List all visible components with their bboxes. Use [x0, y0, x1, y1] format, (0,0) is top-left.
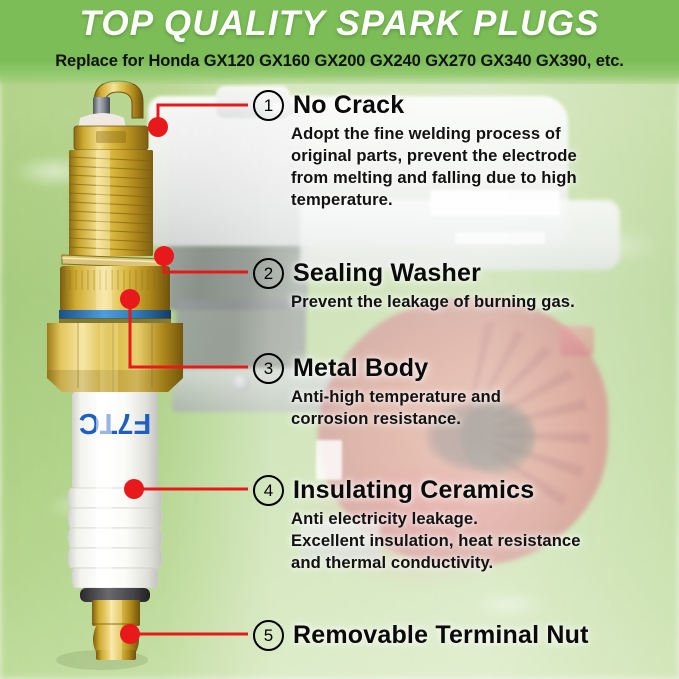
feature-5-number: 5: [253, 620, 284, 651]
feature-2: 2 Sealing Washer Prevent the leakage of …: [253, 258, 575, 313]
feature-1-line-1: Adopt the fine welding process of: [291, 123, 577, 145]
feature-4-title: Insulating Ceramics: [293, 476, 534, 505]
feature-3-number: 3: [253, 353, 284, 384]
feature-4-line-2: Excellent insulation, heat resistance: [291, 530, 581, 552]
feature-1: 1 No Crack Adopt the fine welding proces…: [253, 90, 577, 211]
feature-1-line-2: original parts, prevent the electrode: [291, 145, 577, 167]
feature-3-title: Metal Body: [293, 354, 428, 383]
feature-3: 3 Metal Body Anti-high temperature and c…: [253, 353, 501, 430]
product-infographic: F7TC: [0, 0, 679, 679]
feature-4: 4 Insulating Ceramics Anti electricity l…: [253, 475, 581, 574]
feature-5-heading: 5 Removable Terminal Nut: [253, 620, 589, 651]
feature-2-body: Prevent the leakage of burning gas.: [291, 291, 575, 313]
feature-3-heading: 3 Metal Body: [253, 353, 501, 384]
feature-1-heading: 1 No Crack: [253, 90, 577, 121]
feature-2-line-1: Prevent the leakage of burning gas.: [291, 291, 575, 313]
feature-3-line-2: corrosion resistance.: [291, 408, 501, 430]
feature-1-line-4: temperature.: [291, 189, 577, 211]
feature-1-body: Adopt the fine welding process of origin…: [291, 123, 577, 211]
feature-4-number: 4: [253, 475, 284, 506]
feature-4-line-1: Anti electricity leakage.: [291, 508, 581, 530]
feature-4-heading: 4 Insulating Ceramics: [253, 475, 581, 506]
feature-1-number: 1: [253, 90, 284, 121]
feature-2-number: 2: [253, 258, 284, 289]
feature-1-title: No Crack: [293, 91, 404, 120]
feature-2-heading: 2 Sealing Washer: [253, 258, 575, 289]
feature-1-line-3: from melting and falling due to high: [291, 167, 577, 189]
feature-5-title: Removable Terminal Nut: [293, 621, 589, 650]
feature-callouts: 1 No Crack Adopt the fine welding proces…: [0, 0, 679, 679]
feature-2-title: Sealing Washer: [293, 259, 481, 288]
feature-3-line-1: Anti-high temperature and: [291, 386, 501, 408]
feature-4-line-3: and thermal conductivity.: [291, 552, 581, 574]
feature-5: 5 Removable Terminal Nut: [253, 620, 589, 651]
feature-4-body: Anti electricity leakage. Excellent insu…: [291, 508, 581, 574]
feature-3-body: Anti-high temperature and corrosion resi…: [291, 386, 501, 430]
